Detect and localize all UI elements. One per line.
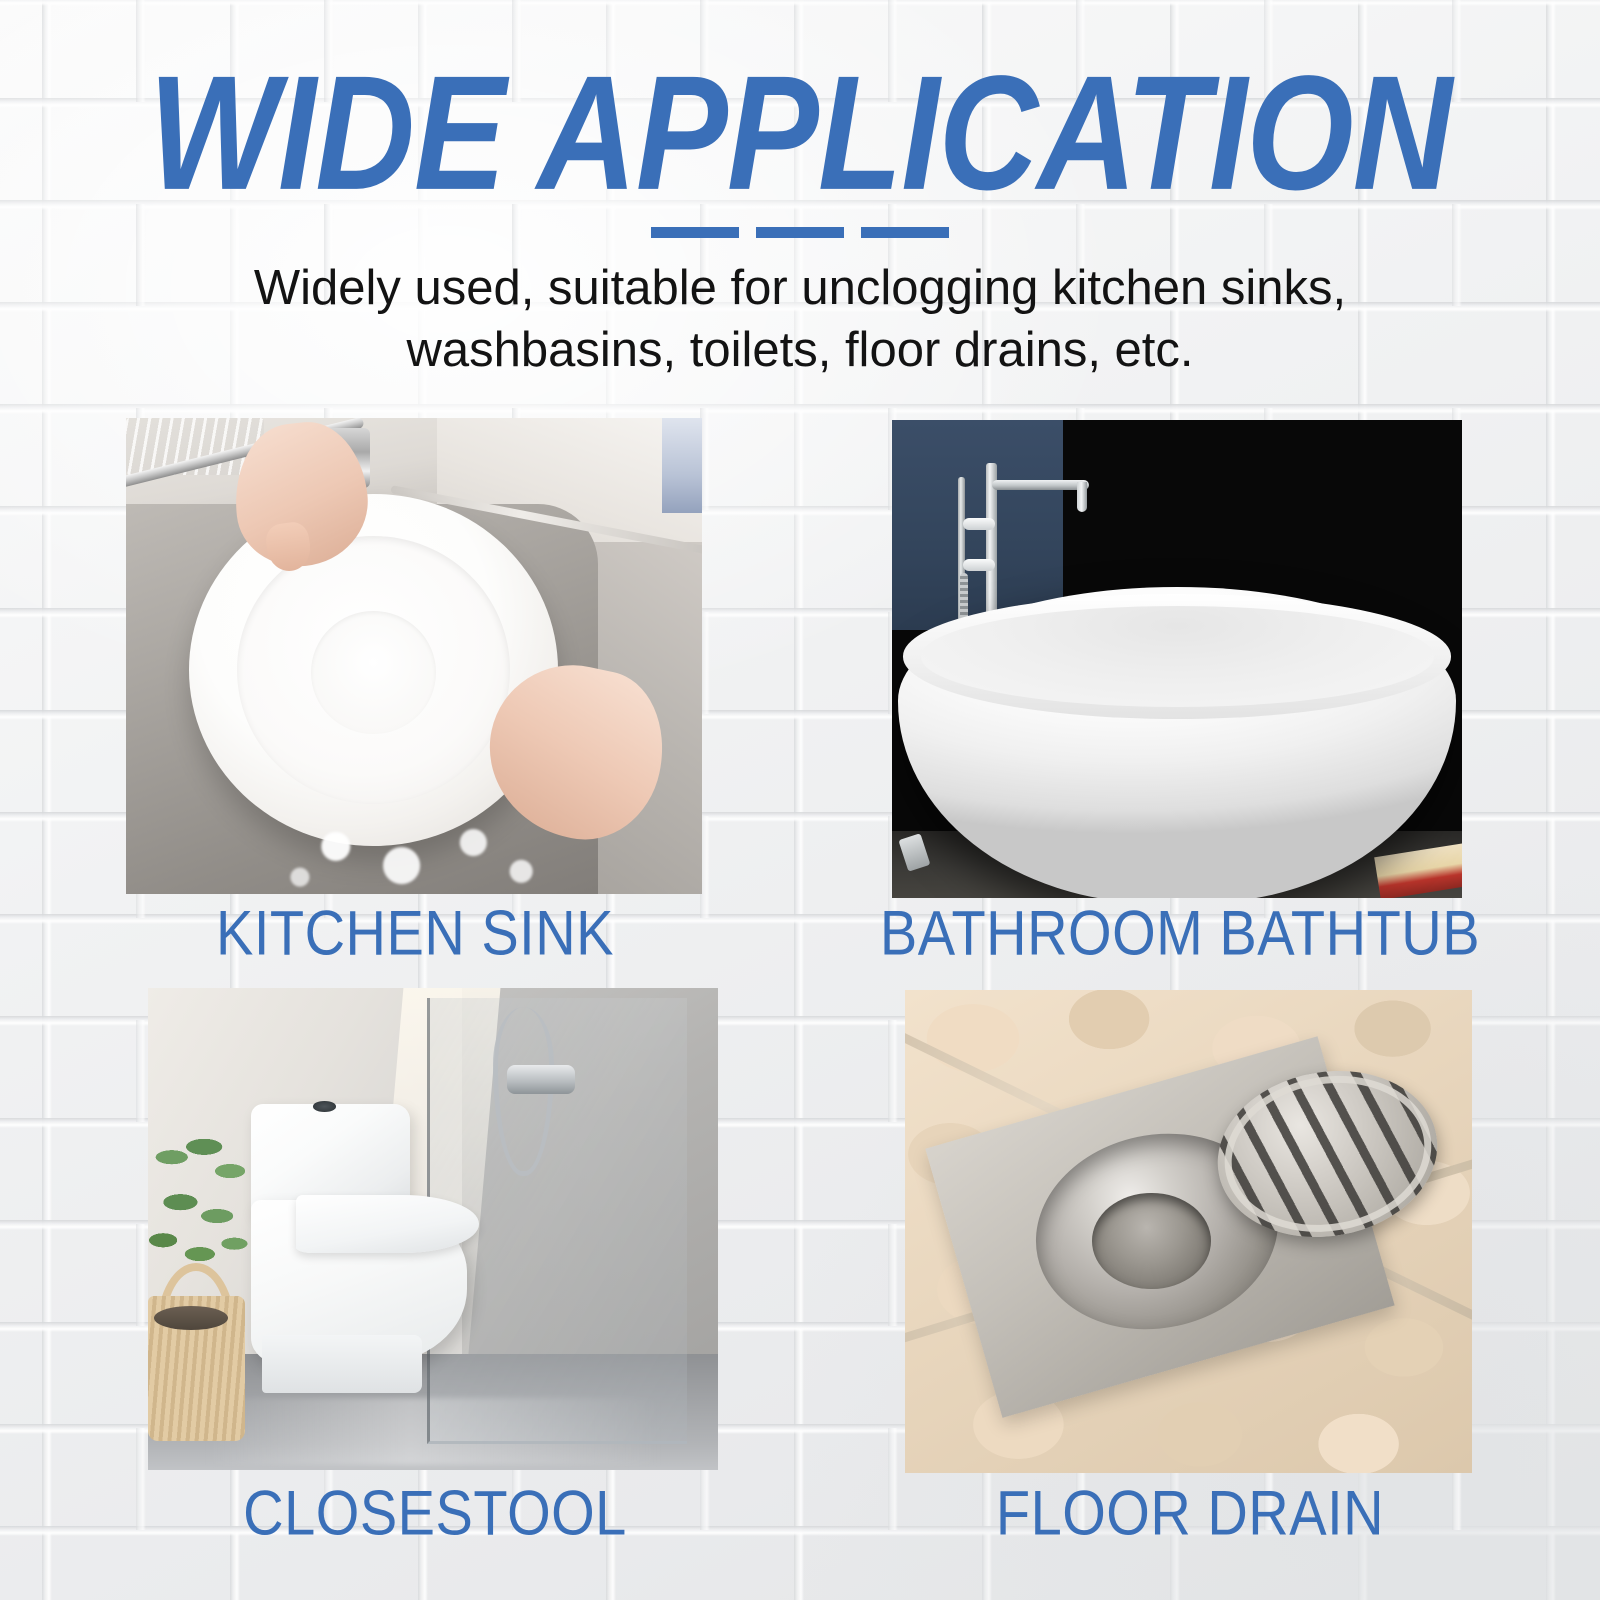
plate-inner-rim <box>237 536 510 804</box>
faucet-standpipe <box>986 463 997 621</box>
caption-bathroom-bathtub: BATHROOM BATHTUB <box>840 896 1520 969</box>
shower-riser-pipe <box>958 477 965 620</box>
navy-wall-panel <box>892 420 1063 630</box>
hand-lower <box>473 649 678 853</box>
bathroom-wall-right <box>462 988 719 1364</box>
countertop <box>437 418 702 561</box>
divider-dash <box>861 227 949 238</box>
tile-floor <box>148 1354 718 1470</box>
faucet-head-icon <box>322 428 370 488</box>
dish-rack <box>126 418 264 475</box>
application-cell-closestool <box>148 988 718 1470</box>
floor-drain-photo <box>905 990 1472 1473</box>
header: WIDE APPLICATION <box>0 52 1600 190</box>
divider-dash <box>651 227 739 238</box>
application-cell-bathroom-bathtub <box>892 420 1462 898</box>
bathtub-rim <box>903 594 1450 718</box>
countertop-side <box>529 542 702 894</box>
toilet-base <box>262 1335 422 1393</box>
infographic-canvas: WIDE APPLICATION Widely used, suitable f… <box>0 0 1600 1600</box>
basket-soil <box>154 1306 228 1330</box>
drain-bowl <box>1018 1112 1297 1352</box>
person-sleeve <box>662 418 702 513</box>
caption-closestool: CLOSESTOOL <box>100 1476 770 1549</box>
floor-reflection <box>205 1398 661 1465</box>
divider-dash <box>756 227 844 238</box>
ceramic-plate <box>189 494 558 846</box>
faucet-spout-tip <box>1077 482 1087 512</box>
wood-trim <box>1374 843 1462 898</box>
sunlight-patch <box>371 988 501 1364</box>
faucet-handle-upper <box>963 518 994 530</box>
olive-plant <box>148 1133 256 1307</box>
caption-floor-drain: FLOOR DRAIN <box>850 1476 1530 1549</box>
page-title: WIDE APPLICATION <box>0 52 1600 215</box>
bathtub-interior <box>921 606 1434 706</box>
pebble-pattern-tile <box>905 990 1472 1473</box>
toilet-seat-lid <box>296 1195 478 1253</box>
caption-kitchen-sink: KITCHEN SINK <box>80 896 750 969</box>
shower-hose-loop <box>493 1007 554 1176</box>
dark-background <box>892 420 1462 898</box>
bathroom-wall <box>148 988 718 1364</box>
bathtub-foot <box>899 833 931 872</box>
shower-hose <box>960 573 968 649</box>
application-cell-floor-drain <box>905 990 1472 1473</box>
drain-flange-plate <box>925 1036 1395 1418</box>
thumb <box>264 520 313 573</box>
plate-well <box>311 611 436 734</box>
drain-cover-rim <box>1212 1060 1444 1248</box>
application-cell-kitchen-sink <box>126 418 702 894</box>
closestool-photo <box>148 988 718 1470</box>
title-divider <box>0 227 1600 238</box>
kitchen-sink-photo <box>126 418 702 894</box>
shower-glass-screen <box>427 998 687 1444</box>
subtitle-text: Widely used, suitable for unclogging kit… <box>150 258 1450 381</box>
bathroom-floor <box>892 831 1462 898</box>
toilet-bowl <box>251 1200 468 1364</box>
toilet-tank <box>251 1104 411 1215</box>
basket-handle <box>157 1263 236 1329</box>
flush-button <box>313 1101 336 1112</box>
tile-grout-line-lower <box>905 1138 1472 1365</box>
tile-grout-line-upper <box>905 1000 1472 1331</box>
faucet-spout <box>992 480 1089 490</box>
faucet-handle-lower <box>963 559 994 571</box>
woven-basket <box>148 1296 245 1441</box>
water-stream <box>354 470 361 689</box>
sink-background <box>126 418 702 894</box>
faucet-arm <box>126 418 365 488</box>
hand-upper <box>228 418 375 572</box>
shower-mixer-icon <box>507 1065 575 1094</box>
bathroom-bathtub-photo <box>892 420 1462 898</box>
sink-basin <box>126 504 598 894</box>
freestanding-bathtub <box>898 587 1457 898</box>
soap-suds <box>276 808 576 894</box>
sink-rim <box>390 485 702 557</box>
drain-outlet-pipe <box>1092 1193 1211 1290</box>
drain-cover-grate-icon <box>1204 1054 1450 1254</box>
